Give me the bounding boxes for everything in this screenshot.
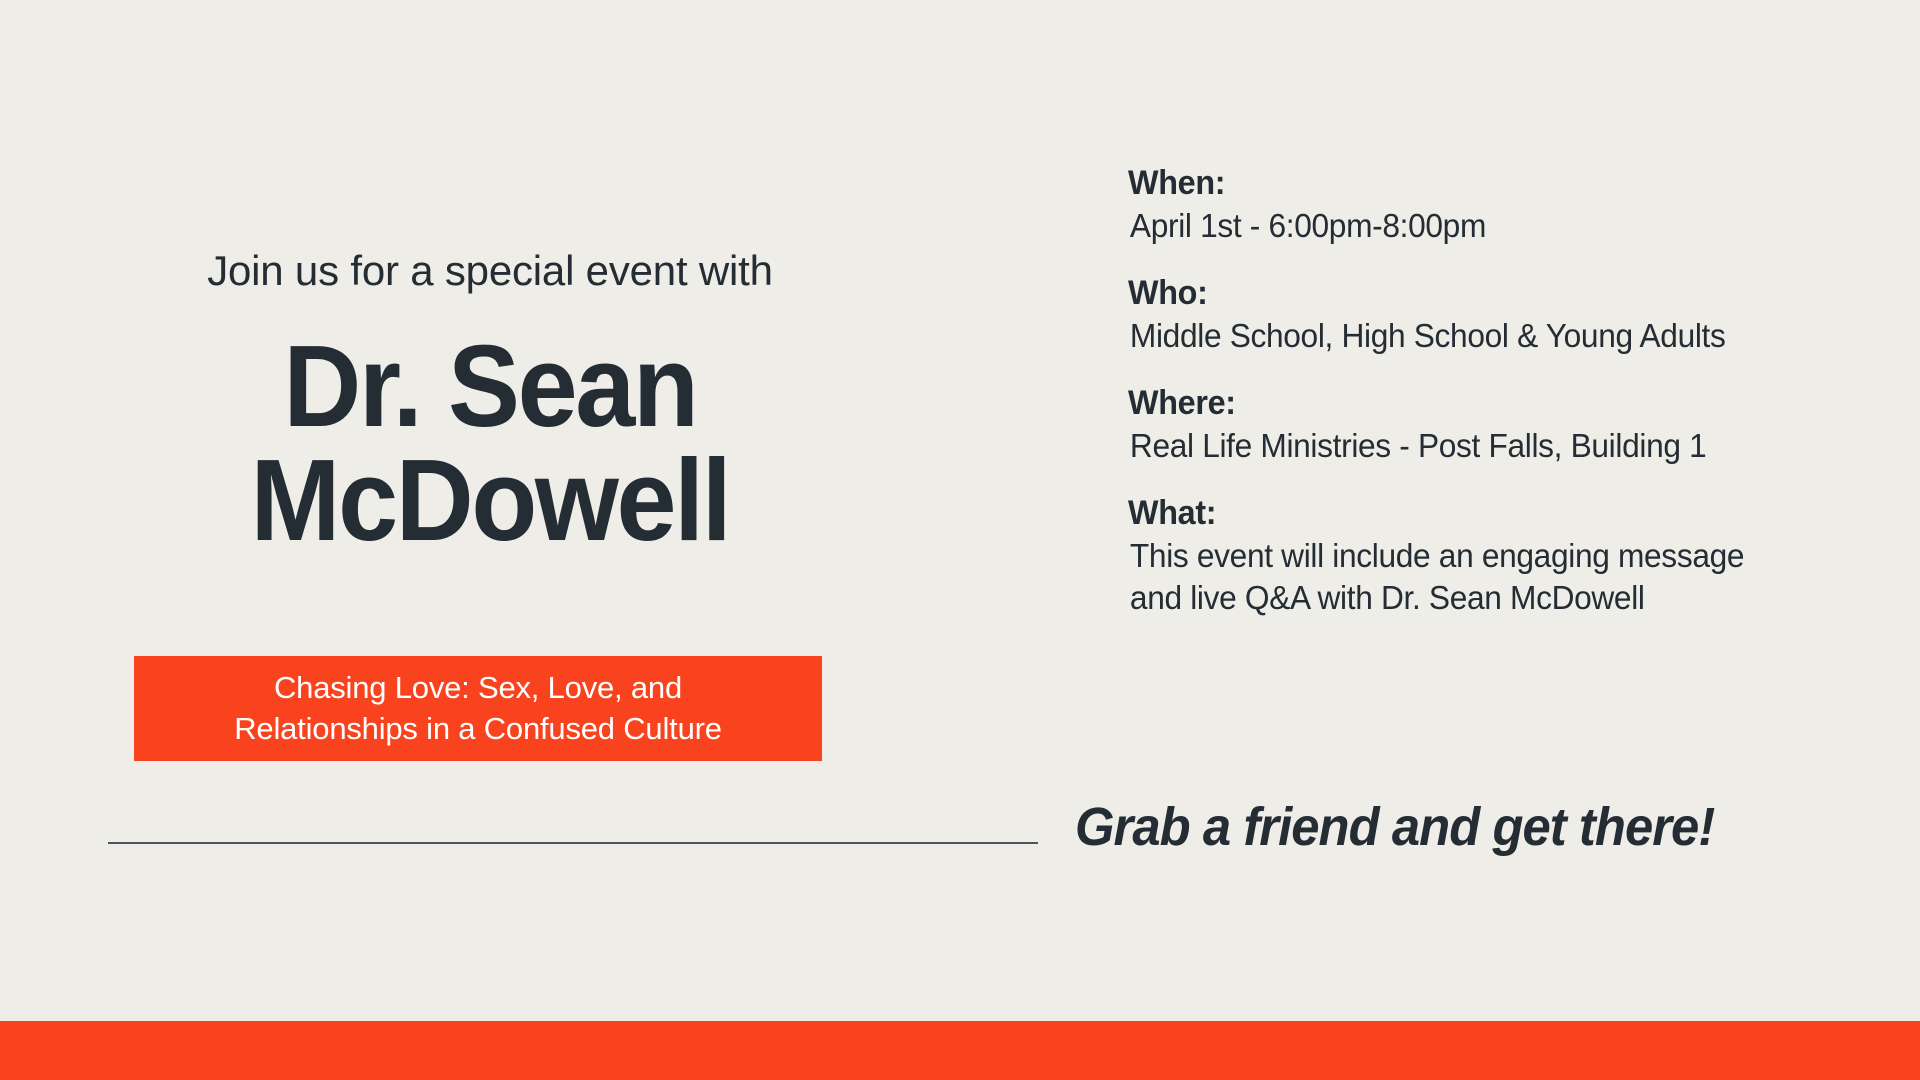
detail-label-who: Who: — [1128, 273, 1850, 313]
detail-who: Who: Middle School, High School & Young … — [1128, 273, 1888, 357]
speaker-name: Dr. Sean McDowell — [0, 330, 980, 557]
talk-title-banner: Chasing Love: Sex, Love, and Relationshi… — [134, 656, 822, 761]
detail-where: Where: Real Life Ministries - Post Falls… — [1128, 383, 1888, 467]
detail-value-when: April 1st - 6:00pm-8:00pm — [1128, 205, 1858, 247]
left-column: Join us for a special event with Dr. Sea… — [0, 0, 980, 1021]
event-details-list: When: April 1st - 6:00pm-8:00pm Who: Mid… — [1128, 163, 1888, 619]
detail-value-what-line-1: This event will include an engaging mess… — [1130, 535, 1858, 577]
horizontal-divider — [108, 842, 1038, 844]
speaker-name-line-2: McDowell — [34, 444, 945, 558]
detail-when: When: April 1st - 6:00pm-8:00pm — [1128, 163, 1888, 247]
detail-value-who-line-1: Middle School, High School & Young Adult… — [1130, 315, 1858, 357]
event-poster: Join us for a special event with Dr. Sea… — [0, 0, 1920, 1080]
speaker-name-line-1: Dr. Sean — [34, 330, 945, 444]
detail-value-what: This event will include an engaging mess… — [1128, 535, 1858, 619]
detail-label-where: Where: — [1128, 383, 1850, 423]
talk-title-line-2: Relationships in a Confused Culture — [140, 709, 816, 750]
bottom-accent-bar — [0, 1021, 1920, 1080]
detail-label-what: What: — [1128, 493, 1850, 533]
detail-what: What: This event will include an engagin… — [1128, 493, 1888, 619]
detail-value-who: Middle School, High School & Young Adult… — [1128, 315, 1858, 357]
detail-label-when: When: — [1128, 163, 1850, 203]
detail-value-when-line-1: April 1st - 6:00pm-8:00pm — [1130, 205, 1858, 247]
talk-title-line-1: Chasing Love: Sex, Love, and — [140, 668, 816, 709]
detail-value-where-line-1: Real Life Ministries - Post Falls, Build… — [1130, 425, 1858, 467]
detail-value-where: Real Life Ministries - Post Falls, Build… — [1128, 425, 1858, 467]
event-kicker: Join us for a special event with — [0, 248, 980, 294]
detail-value-what-line-2: and live Q&A with Dr. Sean McDowell — [1130, 577, 1858, 619]
talk-title-text: Chasing Love: Sex, Love, and Relationshi… — [134, 668, 822, 750]
call-to-action-tagline: Grab a friend and get there! — [1075, 800, 1714, 854]
